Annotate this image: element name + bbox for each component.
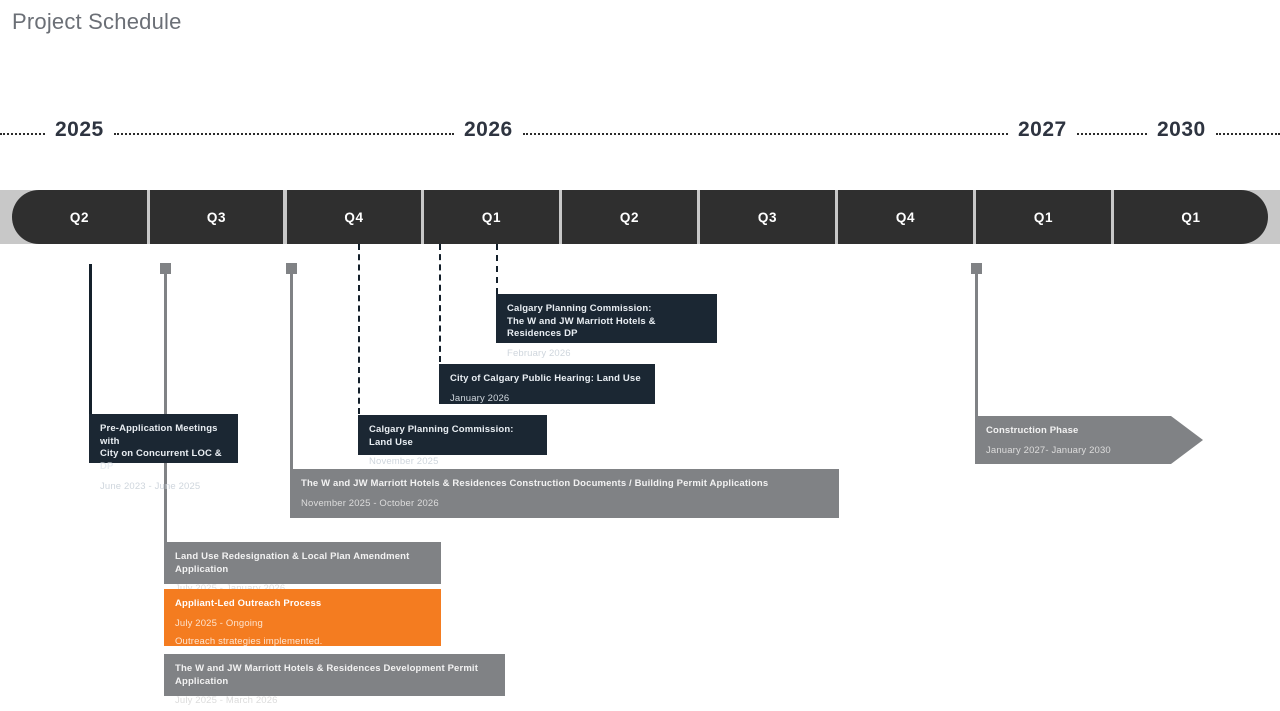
pre-application-connector: [89, 264, 92, 414]
quarter-cell-8-q1[interactable]: Q1: [976, 190, 1111, 244]
bar-title: City of Calgary Public Hearing: Land Use: [450, 373, 644, 386]
quarter-cell-6-q3[interactable]: Q3: [700, 190, 835, 244]
land-use-connector: [164, 264, 167, 544]
cpc-dp-connector: [496, 244, 498, 294]
year-axis-dotted-segment: [114, 133, 454, 135]
milestone-marker-icon: [160, 263, 171, 274]
milestone-cpc-land-use[interactable]: Calgary Planning Commission: Land UseNov…: [358, 415, 547, 455]
bar-title: The W and JW Marriott Hotels & Residence…: [301, 478, 828, 491]
bar-title: Pre-Application Meetings withCity on Con…: [100, 423, 227, 474]
bar-date-range: January 2027- January 2030: [986, 445, 1192, 457]
task-construction-documents[interactable]: The W and JW Marriott Hotels & Residence…: [290, 469, 839, 518]
bar-date-range: November 2025: [369, 456, 536, 468]
milestone-cpc-marriott-dp[interactable]: Calgary Planning Commission:The W and JW…: [496, 294, 717, 343]
year-axis-dotted-segment: [1216, 133, 1280, 135]
quarter-cell-9-q1[interactable]: Q1: [1114, 190, 1268, 244]
year-label-2026: 2026: [464, 118, 513, 142]
milestone-public-hearing-land-use[interactable]: City of Calgary Public Hearing: Land Use…: [439, 364, 655, 404]
quarter-cell-7-q4[interactable]: Q4: [838, 190, 973, 244]
quarter-band: Q2Q3Q4Q1Q2Q3Q4Q1Q1: [0, 190, 1280, 244]
cpc-land-use-connector: [358, 244, 360, 414]
bar-title: Appliant-Led Outreach Process: [175, 598, 430, 611]
year-label-2030: 2030: [1157, 118, 1206, 142]
quarter-cell-5-q2[interactable]: Q2: [562, 190, 697, 244]
quarter-cell-2-q3[interactable]: Q3: [150, 190, 283, 244]
year-label-2025: 2025: [55, 118, 104, 142]
bar-title: The W and JW Marriott Hotels & Residence…: [175, 663, 494, 688]
bar-title: Construction Phase: [986, 425, 1192, 438]
year-axis-dotted-segment: [0, 133, 45, 135]
public-hearing-connector: [439, 244, 441, 362]
page-title: Project Schedule: [12, 9, 182, 35]
quarter-cell-3-q4[interactable]: Q4: [287, 190, 421, 244]
bar-date-range: July 2025 - March 2026: [175, 695, 494, 707]
quarter-cell-4-q1[interactable]: Q1: [424, 190, 559, 244]
milestone-pre-application-meetings[interactable]: Pre-Application Meetings withCity on Con…: [89, 414, 238, 463]
milestone-marker-icon: [971, 263, 982, 274]
bar-title: Land Use Redesignation & Local Plan Amen…: [175, 551, 430, 576]
task-applicant-led-outreach[interactable]: Appliant-Led Outreach ProcessJuly 2025 -…: [164, 589, 441, 646]
task-land-use-redesignation[interactable]: Land Use Redesignation & Local Plan Amen…: [164, 542, 441, 584]
bar-date-range: January 2026: [450, 393, 644, 405]
bar-date-range: November 2025 - October 2026: [301, 498, 828, 510]
task-construction-phase[interactable]: Construction PhaseJanuary 2027- January …: [975, 416, 1203, 464]
bar-date-range: July 2025 - Ongoing: [175, 618, 430, 630]
construction-phase-connector: [975, 264, 978, 416]
bar-title: Calgary Planning Commission:The W and JW…: [507, 303, 706, 341]
bar-date-range: February 2026: [507, 348, 706, 360]
year-label-2027: 2027: [1018, 118, 1067, 142]
construction-docs-connector: [290, 264, 293, 469]
bar-date-range: June 2023 - June 2025: [100, 481, 227, 493]
bar-note: Outreach strategies implemented.: [175, 636, 430, 648]
milestone-marker-icon: [286, 263, 297, 274]
task-marriott-development-permit-application[interactable]: The W and JW Marriott Hotels & Residence…: [164, 654, 505, 696]
year-axis: 2025202620272030: [0, 118, 1280, 150]
year-axis-dotted-segment: [1077, 133, 1147, 135]
year-axis-dotted-segment: [523, 133, 1008, 135]
bar-title: Calgary Planning Commission: Land Use: [369, 424, 536, 449]
quarter-cell-1-q2[interactable]: Q2: [12, 190, 147, 244]
